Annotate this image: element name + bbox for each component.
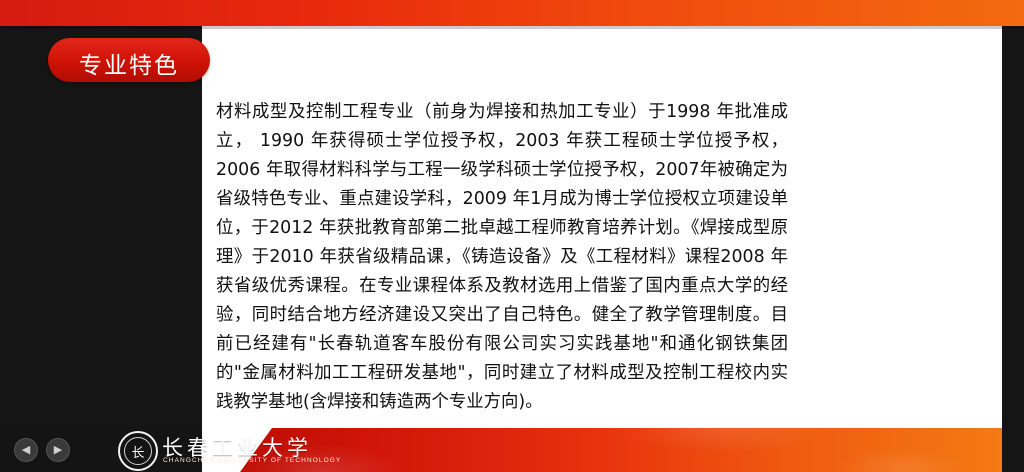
slide-top-band xyxy=(0,0,1024,26)
slide-title-pill: 专业特色 xyxy=(48,38,210,82)
university-name-en: CHANGCHUN UNIVERSITY OF TECHNOLOGY xyxy=(163,457,341,464)
letterbox-right xyxy=(1002,0,1024,472)
university-seal-icon: 长 xyxy=(118,431,158,471)
chevron-left-icon: ◀ xyxy=(22,445,30,456)
previous-slide-button[interactable]: ◀ xyxy=(14,438,38,462)
page-title: 专业特色 xyxy=(48,46,210,80)
slide-body-text: 材料成型及控制工程专业（前身为焊接和热加工专业）于1998 年批准成立， 199… xyxy=(216,98,788,417)
presentation-viewer: 材料成型及控制工程专业（前身为焊接和热加工专业）于1998 年批准成立， 199… xyxy=(0,0,1024,472)
slide-canvas: 材料成型及控制工程专业（前身为焊接和热加工专业）于1998 年批准成立， 199… xyxy=(202,0,1002,472)
university-logo: 长 长春工业大学 CHANGCHUN UNIVERSITY OF TECHNOL… xyxy=(118,428,368,470)
chevron-right-icon: ▶ xyxy=(54,445,62,456)
university-seal-glyph: 长 xyxy=(124,437,152,465)
slide-top-band-shadow xyxy=(0,26,1024,29)
next-slide-button[interactable]: ▶ xyxy=(46,438,70,462)
player-nav-buttons: ◀ ▶ xyxy=(14,438,70,462)
